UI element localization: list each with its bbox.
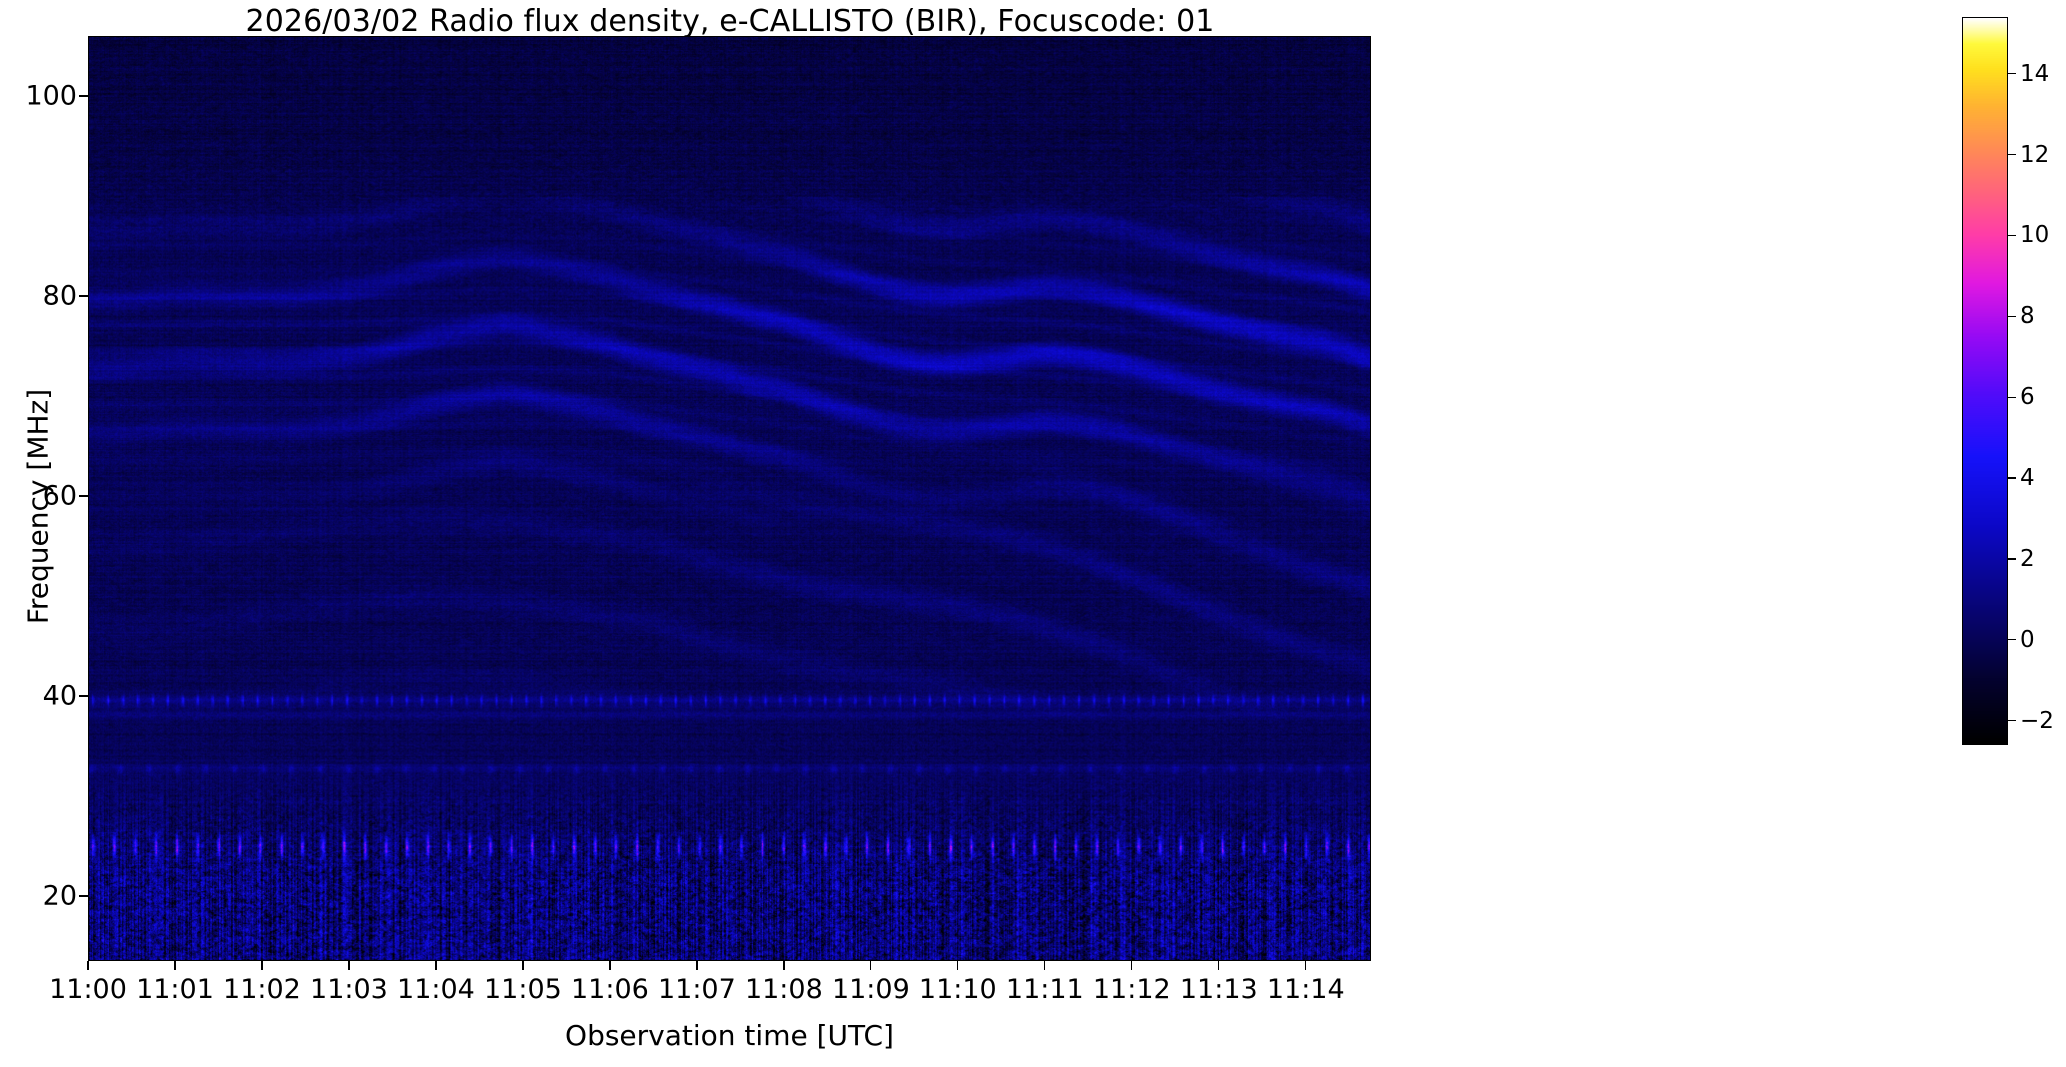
x-tick-label-11:03: 11:03 <box>310 974 388 1005</box>
x-tick-label-11:02: 11:02 <box>223 974 301 1005</box>
colorbar-tick-mark-2 <box>2008 558 2016 559</box>
y-tick-label-60: 60 <box>43 481 77 512</box>
colorbar-tick-label-6: 6 <box>2020 384 2035 410</box>
colorbar-tick-mark-0 <box>2008 639 2016 640</box>
x-tick-mark-11:14 <box>1305 961 1306 970</box>
colorbar-tick-label--2: −2 <box>2020 708 2054 734</box>
x-tick-label-11:01: 11:01 <box>136 974 214 1005</box>
x-tick-mark-11:13 <box>1218 961 1219 970</box>
x-tick-label-11:00: 11:00 <box>49 974 127 1005</box>
colorbar-tick-label-2: 2 <box>2020 546 2035 572</box>
colorbar-tick-label-12: 12 <box>2020 142 2049 168</box>
y-tick-mark-60 <box>79 495 88 496</box>
colorbar <box>1962 17 2008 745</box>
x-tick-mark-11:09 <box>870 961 871 970</box>
y-tick-label-100: 100 <box>25 81 77 112</box>
y-tick-mark-20 <box>79 895 88 896</box>
x-tick-mark-11:06 <box>609 961 610 970</box>
colorbar-tick-mark-10 <box>2008 235 2016 236</box>
colorbar-tick-mark-14 <box>2008 73 2016 74</box>
y-tick-label-40: 40 <box>43 681 77 712</box>
colorbar-tick-label-0: 0 <box>2020 627 2035 653</box>
x-tick-mark-11:00 <box>87 961 88 970</box>
x-tick-label-11:14: 11:14 <box>1267 974 1345 1005</box>
y-tick-mark-100 <box>79 95 88 96</box>
x-tick-label-11:11: 11:11 <box>1006 974 1084 1005</box>
colorbar-tick-mark-12 <box>2008 154 2016 155</box>
x-tick-mark-11:04 <box>435 961 436 970</box>
x-tick-label-11:10: 11:10 <box>919 974 997 1005</box>
spectrogram-axes <box>88 36 1371 961</box>
spectrogram-image <box>89 37 1370 960</box>
page-title: 2026/03/02 Radio flux density, e-CALLIST… <box>0 4 1460 39</box>
x-tick-label-11:06: 11:06 <box>571 974 649 1005</box>
y-tick-label-80: 80 <box>43 281 77 312</box>
colorbar-tick-mark-4 <box>2008 477 2016 478</box>
x-tick-mark-11:07 <box>696 961 697 970</box>
y-tick-mark-40 <box>79 695 88 696</box>
x-tick-mark-11:11 <box>1044 961 1045 970</box>
x-tick-label-11:08: 11:08 <box>745 974 823 1005</box>
colorbar-tick-mark-8 <box>2008 316 2016 317</box>
colorbar-tick-mark--2 <box>2008 720 2016 721</box>
x-tick-mark-11:10 <box>957 961 958 970</box>
x-tick-label-11:05: 11:05 <box>484 974 562 1005</box>
x-tick-label-11:04: 11:04 <box>397 974 475 1005</box>
spectrogram-figure: 2026/03/02 Radio flux density, e-CALLIST… <box>0 0 2066 1067</box>
x-tick-mark-11:03 <box>348 961 349 970</box>
colorbar-tick-label-8: 8 <box>2020 303 2035 329</box>
colorbar-gradient <box>1963 18 2007 744</box>
y-tick-label-20: 20 <box>43 881 77 912</box>
x-tick-label-11:09: 11:09 <box>832 974 910 1005</box>
x-tick-label-11:12: 11:12 <box>1093 974 1171 1005</box>
y-tick-mark-80 <box>79 295 88 296</box>
x-tick-mark-11:01 <box>174 961 175 970</box>
colorbar-tick-label-10: 10 <box>2020 222 2049 248</box>
x-axis-label: Observation time [UTC] <box>88 1019 1371 1052</box>
colorbar-tick-label-4: 4 <box>2020 465 2035 491</box>
colorbar-tick-mark-6 <box>2008 397 2016 398</box>
x-tick-label-11:13: 11:13 <box>1180 974 1258 1005</box>
x-tick-label-11:07: 11:07 <box>658 974 736 1005</box>
x-tick-mark-11:05 <box>522 961 523 970</box>
x-tick-mark-11:12 <box>1131 961 1132 970</box>
x-tick-mark-11:08 <box>783 961 784 970</box>
colorbar-tick-label-14: 14 <box>2020 61 2049 87</box>
x-tick-mark-11:02 <box>261 961 262 970</box>
